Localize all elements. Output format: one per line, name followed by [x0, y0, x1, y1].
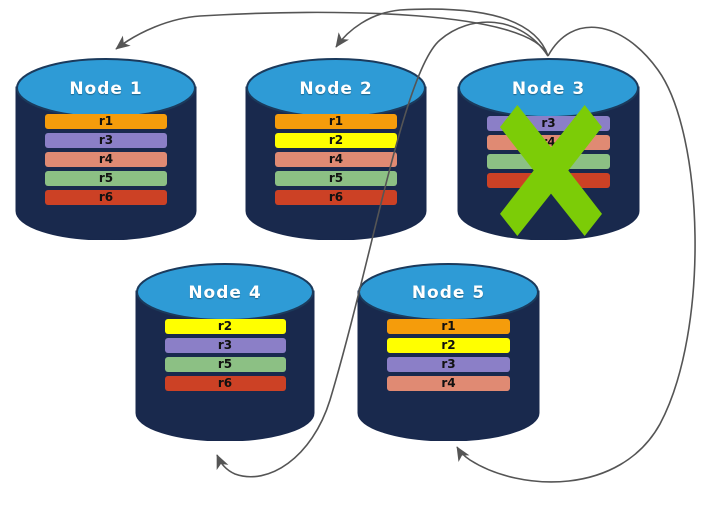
replica-bar[interactable]: r6 — [45, 190, 167, 205]
node-3-replica-list: r3r4r5r6 — [457, 116, 640, 192]
replica-bar[interactable]: r3 — [45, 133, 167, 148]
replica-bar[interactable]: r5 — [487, 154, 610, 169]
node-5-replica-list: r1r2r3r4 — [357, 319, 540, 395]
node-1-replica-list: r1r3r4r5r6 — [15, 114, 197, 209]
node-2-replica-list: r1r2r4r5r6 — [245, 114, 427, 209]
replica-bar[interactable]: r6 — [275, 190, 397, 205]
arrow-node3-to-node2 — [336, 9, 548, 56]
diagram-canvas: Node 1r1r3r4r5r6Node 2r1r2r4r5r6Node 3r3… — [0, 0, 708, 508]
replica-bar[interactable]: r2 — [275, 133, 397, 148]
replica-bar[interactable]: r1 — [45, 114, 167, 129]
cylinder-top — [17, 59, 195, 117]
replica-bar[interactable]: r2 — [387, 338, 510, 353]
cylinder-top — [359, 264, 538, 320]
node-1[interactable]: Node 1r1r3r4r5r6 — [15, 58, 197, 240]
replica-bar[interactable]: r4 — [275, 152, 397, 167]
replica-bar[interactable]: r1 — [387, 319, 510, 334]
replica-bar[interactable]: r6 — [487, 173, 610, 188]
replica-bar[interactable]: r4 — [487, 135, 610, 150]
cylinder-top — [137, 264, 313, 320]
replica-bar[interactable]: r4 — [45, 152, 167, 167]
cylinder-top — [459, 59, 638, 117]
node-3[interactable]: Node 3r3r4r5r6 — [457, 58, 640, 240]
replica-bar[interactable]: r5 — [275, 171, 397, 186]
cylinder-top — [247, 59, 425, 117]
replica-bar[interactable]: r4 — [387, 376, 510, 391]
node-5[interactable]: Node 5r1r2r3r4 — [357, 263, 540, 441]
replica-bar[interactable]: r3 — [387, 357, 510, 372]
replica-bar[interactable]: r5 — [165, 357, 286, 372]
replica-bar[interactable]: r3 — [165, 338, 286, 353]
arrow-node3-to-node1 — [116, 12, 548, 56]
node-4[interactable]: Node 4r2r3r5r6 — [135, 263, 315, 441]
replica-bar[interactable]: r6 — [165, 376, 286, 391]
node-2[interactable]: Node 2r1r2r4r5r6 — [245, 58, 427, 240]
replica-bar[interactable]: r1 — [275, 114, 397, 129]
replica-bar[interactable]: r3 — [487, 116, 610, 131]
replica-bar[interactable]: r5 — [45, 171, 167, 186]
node-4-replica-list: r2r3r5r6 — [135, 319, 315, 395]
replica-bar[interactable]: r2 — [165, 319, 286, 334]
